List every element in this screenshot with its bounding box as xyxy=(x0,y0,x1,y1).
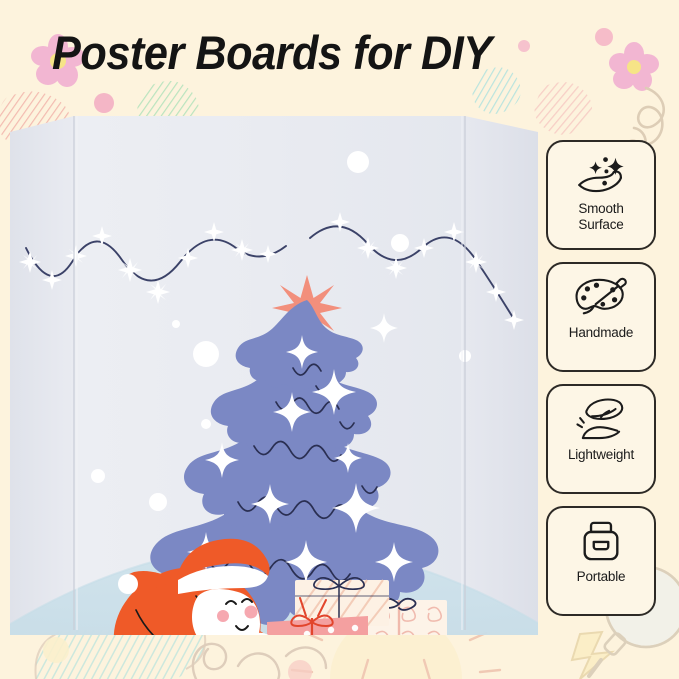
feature-badge-list: Smooth Surface Han xyxy=(546,140,666,628)
feature-badge-handmade[interactable]: Handmade xyxy=(546,262,656,372)
pale-dot-2 xyxy=(288,660,312,679)
feature-badge-smooth-surface[interactable]: Smooth Surface xyxy=(546,140,656,250)
feature-label: Smooth Surface xyxy=(578,201,623,232)
feature-label: Portable xyxy=(577,569,626,585)
paint-palette-icon xyxy=(572,274,630,320)
squiggle-bottom-center xyxy=(193,644,326,679)
page-title: Poster Boards for DIY xyxy=(52,18,492,88)
board-panel-left xyxy=(10,116,74,635)
sparkle-hand-icon xyxy=(572,152,630,198)
poster-ad-canvas: Poster Boards for DIY Smooth Surface xyxy=(0,0,679,679)
feature-label: Handmade xyxy=(569,325,633,341)
feature-badge-portable[interactable]: Portable xyxy=(546,506,656,616)
santa-hat-pompom xyxy=(118,574,138,594)
santa-cheek-left xyxy=(217,610,229,622)
pale-dot-1 xyxy=(43,637,69,663)
feature-label: Lightweight xyxy=(568,447,634,463)
feather-hand-icon xyxy=(572,396,630,442)
feature-badge-lightweight[interactable]: Lightweight xyxy=(546,384,656,494)
pink-scribble-center xyxy=(535,82,592,135)
santa-cheek-right xyxy=(245,606,258,619)
briefcase-icon xyxy=(572,518,630,564)
board-panel-right xyxy=(465,116,538,635)
tri-fold-poster-board[interactable] xyxy=(10,110,538,635)
lightning-bolt-bottom-right xyxy=(572,632,612,679)
page-title-area: Poster Boards for DIY xyxy=(0,18,679,88)
